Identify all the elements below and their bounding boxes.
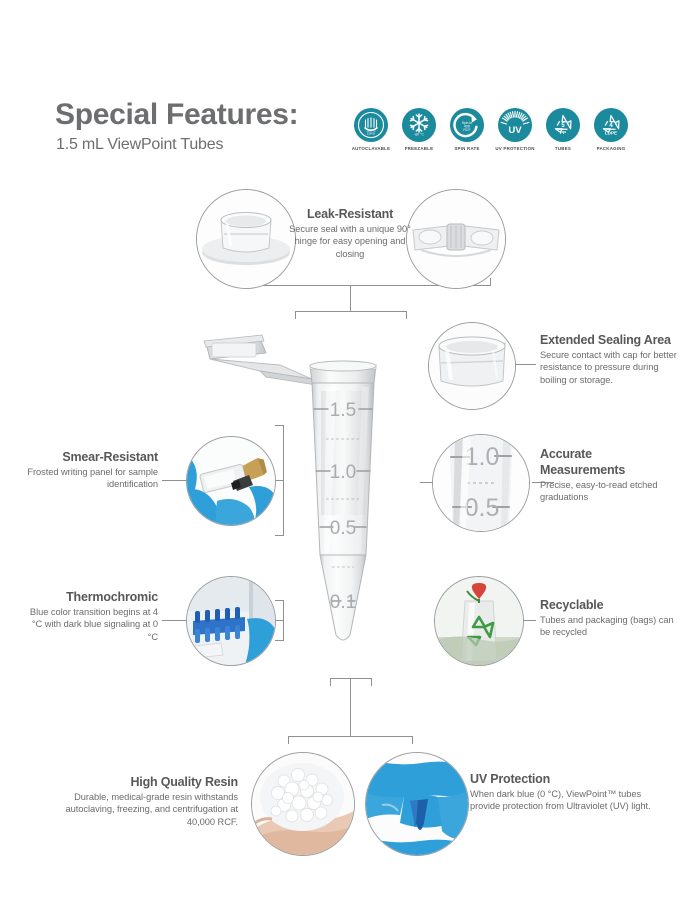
connector-bottom-bracket (288, 736, 413, 737)
badge-tubes-pp: 5 PP TUBES (544, 108, 582, 151)
callout-body-thermochromic: Blue color transition begins at 4 °C wit… (22, 606, 158, 643)
callout-title-high-quality-resin: High Quality Resin (58, 775, 238, 789)
photo-recyclable (434, 576, 524, 666)
svg-text:RCF: RCF (463, 128, 470, 132)
badge-uv-protection: UV UV PROTECTION (496, 108, 534, 151)
callout-title-thermochromic: Thermochromic (22, 590, 158, 604)
page-title: Special Features: (55, 98, 298, 132)
infographic-page: Special Features: 1.5 mL ViewPoint Tubes… (0, 0, 700, 906)
connector-bottom-right-tick (412, 736, 413, 744)
photo-thermochromic (186, 576, 276, 666)
callout-body-recyclable: Tubes and packaging (bags) can be recycl… (540, 614, 686, 639)
svg-text:15PSI: 15PSI (367, 132, 376, 136)
callout-title-leak-resistant: Leak-Resistant (286, 207, 414, 221)
badge-packaging-ldpe: 4 LDPE PACKAGING (592, 108, 630, 151)
callout-high-quality-resin: High Quality Resin Durable, medical-grad… (58, 775, 238, 828)
callout-title-extended-sealing-area: Extended Sealing Area (540, 333, 686, 347)
svg-text:4: 4 (609, 123, 613, 129)
callout-recyclable: Recyclable Tubes and packaging (bags) ca… (540, 598, 686, 639)
badge-label-freezable: FREEZABLE (405, 146, 434, 151)
svg-text:5: 5 (561, 123, 565, 129)
tube-graduation-0-1: 0.1 (330, 592, 356, 613)
page-subtitle: 1.5 mL ViewPoint Tubes (56, 136, 223, 154)
tube-graduation-0-5: 0.5 (330, 518, 356, 539)
callout-smear-resistant: Smear-Resistant Frosted writing panel fo… (24, 450, 158, 491)
connector-bottom-inner-bracket (330, 678, 372, 679)
badge-label-autoclavable: AUTOCLAVABLE (352, 146, 391, 151)
callout-body-leak-resistant: Secure seal with a unique 90° hinge for … (286, 223, 414, 260)
connector-bottom-stem (350, 678, 351, 736)
recycle-ldpe-icon: 4 LDPE (594, 108, 628, 142)
callout-body-accurate-measurements: Precise, easy-to-read etched graduations (540, 479, 680, 504)
badge-label-tubes: TUBES (555, 146, 571, 151)
photo-accurate-measurements: 1.0 0.5 (432, 434, 530, 532)
photo-leak-resistant-cap (196, 189, 296, 289)
certification-badge-row: 121 °C 15PSI AUTOCLAVABLE (352, 108, 630, 151)
spin-rate-icon: Spin to 40K RCF (450, 108, 484, 142)
connector-bottom-inner-left-tick (330, 678, 331, 686)
badge-freezable: -80 °C FREEZABLE (400, 108, 438, 151)
callout-title-smear-resistant: Smear-Resistant (24, 450, 158, 464)
autoclavable-icon: 121 °C 15PSI (354, 108, 388, 142)
badge-label-uv-protection: UV PROTECTION (495, 146, 534, 151)
zoom-graduation-0-5: 0.5 (465, 494, 500, 522)
badge-autoclavable: 121 °C 15PSI AUTOCLAVABLE (352, 108, 390, 151)
tube-illustration: 1.5 1.0 0.5 0.1 (140, 305, 440, 665)
svg-text:PP: PP (560, 130, 566, 135)
photo-smear-resistant (186, 436, 276, 526)
photo-leak-resistant-hinge (406, 189, 506, 289)
tube-graduation-1-0: 1.0 (330, 462, 356, 483)
uv-protection-icon: UV (498, 108, 532, 142)
connector-bottom-inner-right-tick (371, 678, 372, 686)
callout-extended-sealing-area: Extended Sealing Area Secure contact wit… (540, 333, 686, 386)
badge-spin-rate: Spin to 40K RCF SPIN RATE (448, 108, 486, 151)
callout-title-accurate-measurements-line2: Measurements (540, 463, 680, 477)
badge-label-spin-rate: SPIN RATE (454, 146, 479, 151)
callout-thermochromic: Thermochromic Blue color transition begi… (22, 590, 158, 643)
callout-title-uv-protection: UV Protection (470, 772, 670, 786)
svg-text:UV: UV (508, 125, 522, 136)
photo-extended-sealing-area (428, 322, 516, 410)
callout-body-uv-protection: When dark blue (0 °C), ViewPoint™ tubes … (470, 788, 670, 813)
svg-text:-80 °C: -80 °C (414, 133, 424, 137)
callout-title-accurate-measurements-line1: Accurate (540, 447, 680, 461)
recycle-pp-icon: 5 PP (546, 108, 580, 142)
photo-uv-protection (365, 752, 469, 856)
callout-body-extended-sealing-area: Secure contact with cap for better resis… (540, 349, 686, 386)
callout-uv-protection: UV Protection When dark blue (0 °C), Vie… (470, 772, 670, 813)
photo-high-quality-resin (251, 752, 355, 856)
svg-text:LDPE: LDPE (605, 130, 617, 135)
freezable-icon: -80 °C (402, 108, 436, 142)
badge-label-packaging: PACKAGING (597, 146, 626, 151)
callout-body-smear-resistant: Frosted writing panel for sample identif… (24, 466, 158, 491)
connector-bottom-left-tick (288, 736, 289, 744)
callout-leak-resistant: Leak-Resistant Secure seal with a unique… (286, 207, 414, 260)
tube-graduation-1-5: 1.5 (330, 400, 356, 421)
callout-body-high-quality-resin: Durable, medical-grade resin withstands … (58, 791, 238, 828)
callout-title-recyclable: Recyclable (540, 598, 686, 612)
callout-accurate-measurements: Accurate Measurements Precise, easy-to-r… (540, 447, 680, 504)
